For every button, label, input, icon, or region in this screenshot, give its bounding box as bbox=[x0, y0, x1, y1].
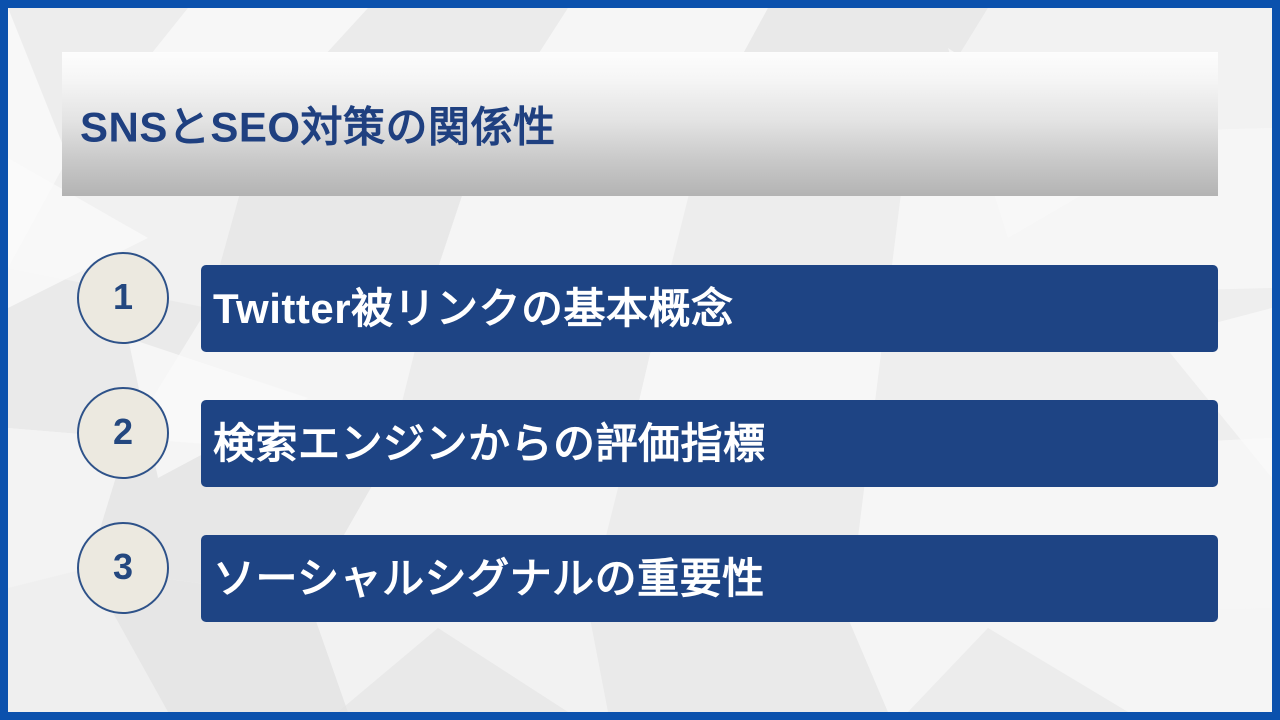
step-number-label: 2 bbox=[113, 414, 133, 450]
list-item[interactable]: 1 Twitter被リンクの基本概念 bbox=[62, 252, 1218, 344]
list-item[interactable]: 3 ソーシャルシグナルの重要性 bbox=[62, 522, 1218, 614]
step-number-badge: 2 bbox=[77, 387, 169, 479]
topic-label: ソーシャルシグナルの重要性 bbox=[201, 558, 765, 600]
topic-bar[interactable]: ソーシャルシグナルの重要性 bbox=[201, 535, 1218, 622]
topic-bar[interactable]: Twitter被リンクの基本概念 bbox=[201, 265, 1218, 352]
step-number-label: 1 bbox=[113, 279, 133, 315]
slide-root: SNSとSEO対策の関係性 1 Twitter被リンクの基本概念 2 検索エンジ… bbox=[0, 0, 1280, 720]
step-number-label: 3 bbox=[113, 549, 133, 585]
page-title: SNSとSEO対策の関係性 bbox=[80, 94, 556, 155]
topic-label: 検索エンジンからの評価指標 bbox=[201, 423, 766, 465]
topic-label: Twitter被リンクの基本概念 bbox=[201, 288, 734, 330]
step-number-badge: 3 bbox=[77, 522, 169, 614]
step-number-badge: 1 bbox=[77, 252, 169, 344]
topic-bar[interactable]: 検索エンジンからの評価指標 bbox=[201, 400, 1218, 487]
list-item[interactable]: 2 検索エンジンからの評価指標 bbox=[62, 387, 1218, 479]
slide-canvas: SNSとSEO対策の関係性 1 Twitter被リンクの基本概念 2 検索エンジ… bbox=[8, 8, 1272, 712]
slide-title-bar: SNSとSEO対策の関係性 bbox=[62, 52, 1218, 196]
